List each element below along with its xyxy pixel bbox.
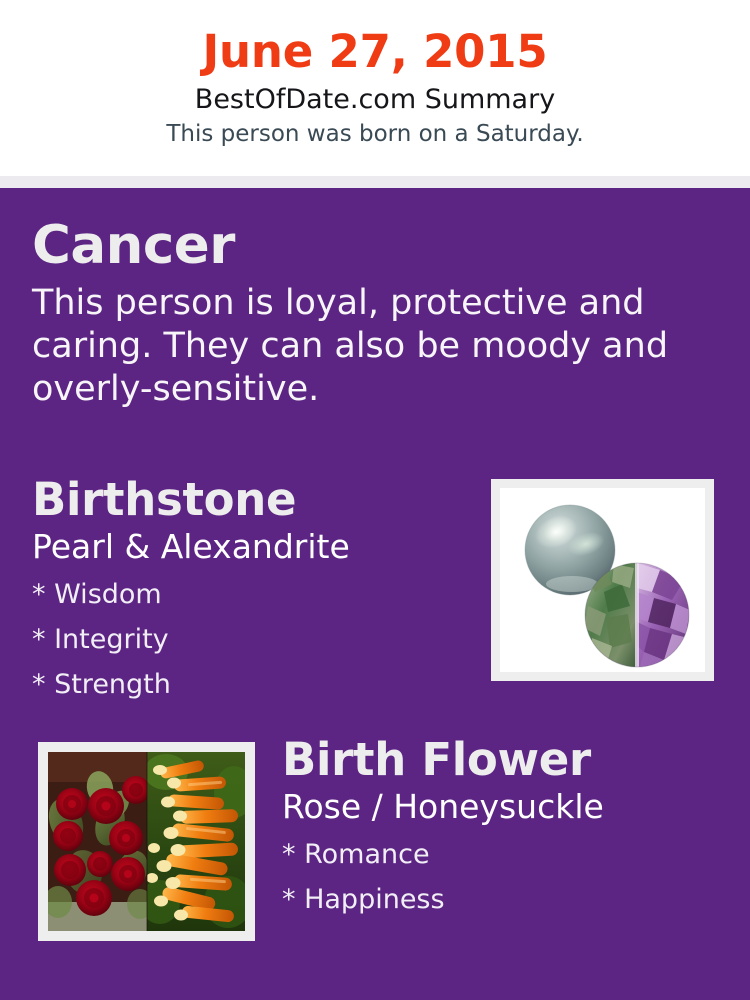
birthstone-traits-list: * Wisdom * Integrity * Strength (32, 566, 472, 707)
zodiac-section: Cancer This person is loyal, protective … (32, 216, 672, 411)
site-name-subtitle: BestOfDate.com Summary (0, 78, 750, 116)
page-title-date: June 27, 2015 (0, 0, 750, 78)
birthstone-image-frame (491, 479, 714, 681)
birth-flower-title: Birth Flower (282, 733, 722, 786)
birth-flower-section: Birth Flower Rose / Honeysuckle * Romanc… (282, 733, 722, 922)
birthstone-photo-pearl-alexandrite (500, 488, 705, 672)
birthstone-image (500, 488, 705, 672)
list-item: * Integrity (32, 617, 472, 662)
list-item: * Romance (282, 832, 722, 877)
list-item: * Strength (32, 662, 472, 707)
list-item: * Wisdom (32, 572, 472, 617)
list-item: * Happiness (282, 877, 722, 922)
birthstone-section: Birthstone Pearl & Alexandrite * Wisdom … (32, 473, 472, 707)
summary-card: June 27, 2015 BestOfDate.com Summary Thi… (0, 0, 750, 1000)
birth-flower-names: Rose / Honeysuckle (282, 786, 722, 826)
birth-weekday-note: This person was born on a Saturday. (0, 116, 750, 148)
card-header: June 27, 2015 BestOfDate.com Summary Thi… (0, 0, 750, 176)
birth-flower-traits-list: * Romance * Happiness (282, 826, 722, 922)
birth-flower-photo-rose-honeysuckle (48, 752, 245, 931)
zodiac-sign-title: Cancer (32, 216, 672, 276)
zodiac-description: This person is loyal, protective and car… (32, 276, 672, 411)
header-divider (0, 176, 750, 188)
birth-flower-image (48, 752, 245, 931)
birth-flower-image-frame (38, 742, 255, 941)
birthstone-title: Birthstone (32, 473, 472, 526)
birthstone-names: Pearl & Alexandrite (32, 526, 472, 566)
